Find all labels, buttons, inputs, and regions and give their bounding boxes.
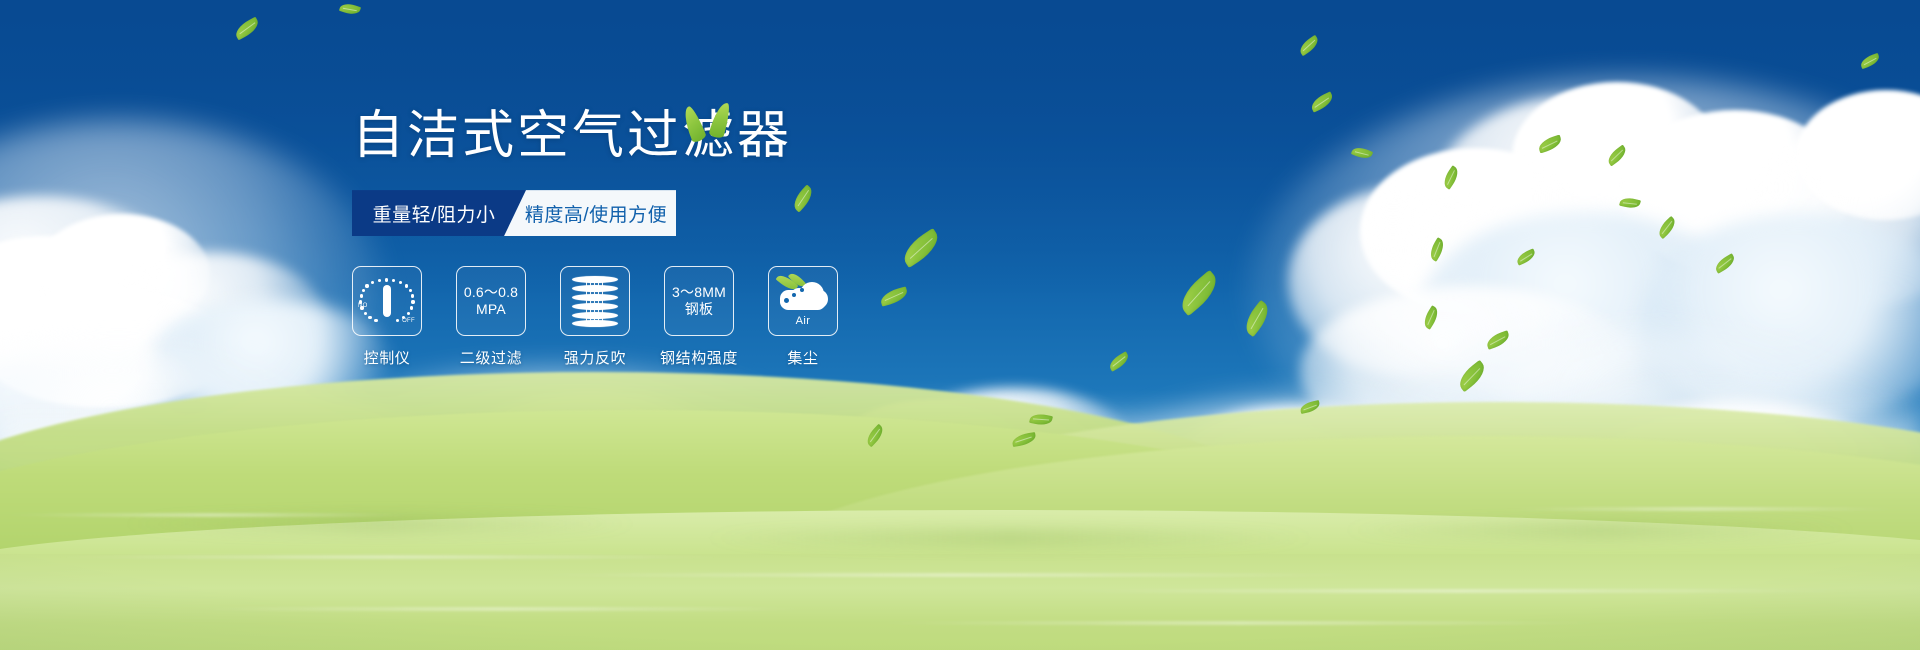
feature-text-line1: 0.6～0.8 <box>464 284 518 301</box>
feature-card: Air <box>768 266 838 336</box>
feature-card: 3～8MM 钢板 <box>664 266 734 336</box>
air-cloud-icon: Air <box>774 276 832 326</box>
sprout-leaf-icon <box>682 100 740 144</box>
feature-item-secondary-filtration[interactable]: 0.6～0.8 MPA 二级过滤 <box>456 266 526 368</box>
feature-item-dust-collection[interactable]: Air 集尘 <box>768 266 838 368</box>
tab-precision-easyuse[interactable]: 精度高/使用方便 <box>504 190 676 236</box>
feature-item-controller[interactable]: NO OFF 控制仪 <box>352 266 422 368</box>
feature-card <box>560 266 630 336</box>
tab-label: 精度高/使用方便 <box>525 200 667 227</box>
hero-banner: 自洁式空气过滤器 重量轻/阻力小 精度高/使用方便 <box>0 0 1920 650</box>
feature-caption: 强力反吹 <box>564 347 626 368</box>
tab-lightweight-lowresistance[interactable]: 重量轻/阻力小 <box>352 190 526 236</box>
feature-item-strong-backblow[interactable]: 强力反吹 <box>560 266 630 368</box>
feature-text-line2: MPA <box>476 301 506 318</box>
air-label: Air <box>774 315 832 327</box>
feature-card: NO OFF <box>352 266 422 336</box>
feature-list: NO OFF 控制仪 0.6～0.8 MPA 二级过滤 <box>352 266 1072 368</box>
feature-card: 0.6～0.8 MPA <box>456 266 526 336</box>
feature-caption: 二级过滤 <box>460 347 522 368</box>
grass-flat-band <box>0 554 1920 650</box>
gauge-icon: NO OFF <box>361 277 413 325</box>
feature-caption: 控制仪 <box>364 347 411 368</box>
feature-text-line1: 3～8MM <box>672 284 726 301</box>
subtitle-tabs: 重量轻/阻力小 精度高/使用方便 <box>352 190 676 236</box>
tab-label: 重量轻/阻力小 <box>373 200 496 227</box>
feature-item-steel-strength[interactable]: 3～8MM 钢板 钢结构强度 <box>664 266 734 368</box>
gauge-label-no: NO <box>358 303 368 309</box>
banner-content: 自洁式空气过滤器 重量轻/阻力小 精度高/使用方便 <box>352 108 1072 368</box>
feature-caption: 集尘 <box>787 347 818 368</box>
filter-stack-icon <box>572 276 618 326</box>
feature-caption: 钢结构强度 <box>660 347 738 368</box>
gauge-label-off: OFF <box>402 318 415 324</box>
feature-text-line2: 钢板 <box>685 301 713 318</box>
